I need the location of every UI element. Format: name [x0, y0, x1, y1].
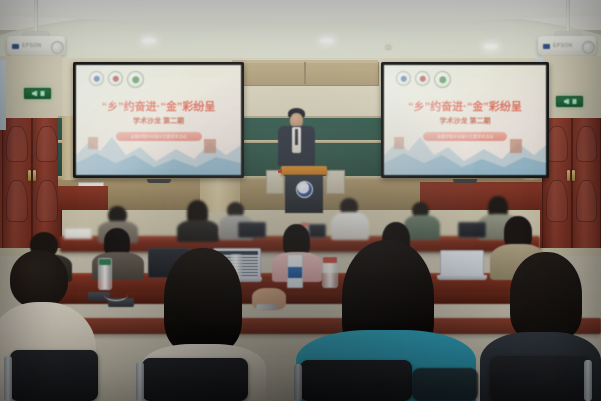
door-panel [576, 180, 597, 222]
university-emblem-blue-icon [396, 71, 411, 86]
exit-running-man-icon [30, 91, 46, 96]
ceiling-rim [0, 0, 601, 22]
slide-subtitle-right: 学术沙龙 第二期 [384, 116, 546, 126]
speaker-tie [295, 129, 298, 145]
ceiling-light [484, 44, 498, 49]
slide-logo-row [89, 71, 144, 88]
person-torso [177, 220, 219, 242]
door-panel [36, 180, 58, 222]
person-head-long-hair [164, 248, 242, 352]
podium-side-right [326, 170, 345, 194]
ceiling-light [320, 38, 334, 43]
projector-badge [543, 44, 550, 49]
charging-cable [104, 288, 128, 301]
chair-backrest [10, 350, 98, 401]
laptop-closed[interactable] [238, 222, 266, 238]
left-screen-surface: “乡”约奋进·“金”彩纷呈 学术沙龙 第二期 金融学院乡村振兴主题学术活动 [76, 65, 241, 175]
podium-desktop [281, 166, 327, 175]
right-projector-mount-pole [566, 0, 570, 34]
door-panel [576, 126, 597, 162]
audience-person [331, 198, 369, 240]
door-panel [6, 126, 28, 162]
wristwatch [256, 304, 278, 310]
exit-sign-left [24, 88, 51, 99]
door-panel [546, 126, 568, 162]
institute-emblem-red-icon [108, 71, 123, 86]
right-door-handle[interactable] [567, 170, 570, 181]
left-projector: EPSON [7, 36, 65, 56]
chair-backrest [142, 358, 248, 401]
chair-backrest [412, 368, 478, 401]
left-door-handle[interactable] [28, 170, 31, 181]
slide-logo-row [396, 71, 451, 88]
person-torso [331, 212, 369, 240]
slide-mountain-illustration [384, 129, 546, 175]
university-emblem-blue-icon [89, 71, 104, 86]
projector-badge [12, 44, 19, 49]
chair-frame [294, 364, 302, 401]
left-door-handle[interactable] [33, 170, 36, 181]
cup-lid [99, 259, 111, 265]
association-emblem-green-icon [127, 71, 144, 88]
right-projector-brand: EPSON [553, 43, 573, 49]
right-door-handle[interactable] [572, 170, 575, 181]
projector-lens-icon [582, 41, 595, 54]
slide-title-right: “乡”约奋进·“金”彩纷呈 [384, 98, 546, 114]
right-screen-chin [453, 179, 477, 183]
laptop-closed[interactable] [458, 222, 486, 238]
door-panel [36, 126, 58, 162]
left-projection-screen[interactable]: “乡”约奋进·“金”彩纷呈 学术沙龙 第二期 金融学院乡村振兴主题学术活动 [73, 62, 244, 178]
chair-frame [136, 362, 144, 401]
slide-mountain-illustration [76, 129, 241, 175]
left-projector-mount-pole [34, 0, 38, 34]
podium-body [285, 175, 323, 213]
projector-lens-icon [51, 41, 64, 54]
chair-frame [4, 356, 12, 401]
person-head [10, 250, 68, 308]
right-projector: EPSON [538, 36, 596, 56]
classroom-photo: EPSON EPSON [0, 0, 601, 401]
left-screen-chin [147, 179, 171, 183]
exit-running-man-icon [562, 99, 578, 104]
left-window-sliver [0, 60, 6, 130]
panel-divider [304, 62, 306, 84]
door-panel [6, 180, 28, 222]
audience-person [176, 200, 220, 240]
person-head-long-hair [510, 252, 582, 340]
podium-indicator-light [278, 169, 282, 173]
smoke-detector-icon [385, 44, 392, 49]
right-door[interactable] [540, 118, 601, 248]
podium-university-emblem-icon [296, 181, 313, 198]
upper-wall-panel-center [233, 62, 379, 86]
tumbler-cup[interactable] [98, 258, 112, 290]
left-projector-brand: EPSON [22, 43, 42, 49]
left-door[interactable] [0, 118, 62, 248]
institute-emblem-red-icon [415, 71, 430, 86]
chair-backrest [490, 356, 590, 401]
right-projection-screen[interactable]: “乡”约奋进·“金”彩纷呈 学术沙龙 第二期 金融学院乡村振兴主题学术活动 [381, 62, 549, 178]
chair-frame [584, 360, 592, 401]
slide-title-left: “乡”约奋进·“金”彩纷呈 [76, 98, 241, 114]
door-panel [546, 180, 568, 222]
slide-subtitle-left: 学术沙龙 第二期 [76, 116, 241, 126]
right-screen-surface: “乡”约奋进·“金”彩纷呈 学术沙龙 第二期 金融学院乡村振兴主题学术活动 [384, 65, 546, 175]
ceiling-light [142, 38, 156, 43]
exit-sign-right [556, 96, 583, 107]
association-emblem-green-icon [434, 71, 451, 88]
chair-backrest [300, 360, 412, 401]
